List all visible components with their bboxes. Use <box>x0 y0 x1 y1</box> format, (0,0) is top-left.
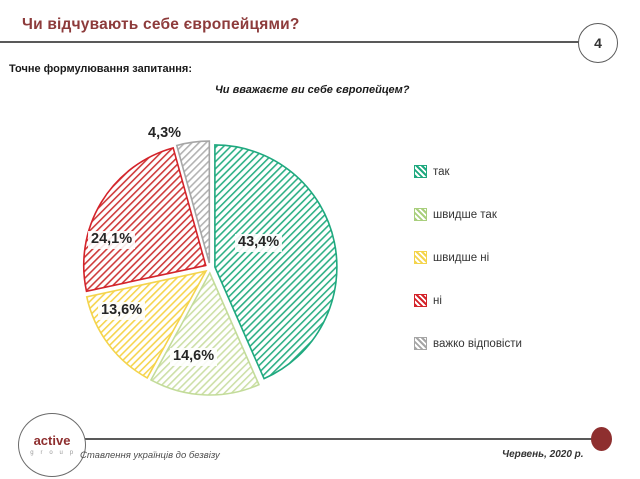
footer-divider <box>62 438 597 440</box>
legend-item-vazhko-vidpovisty[interactable]: важко відповісти <box>414 322 624 365</box>
logo-wordmark: active <box>34 434 71 447</box>
legend-item-tak[interactable]: так <box>414 150 624 193</box>
pie-chart: 43,4% 14,6% 13,6% 24,1% 4,3% <box>60 118 360 403</box>
legend-swatch-icon <box>414 294 427 307</box>
legend-label: ні <box>433 295 442 307</box>
slice-label-shvydshe-tak: 14,6% <box>170 348 217 366</box>
legend-label: швидше ні <box>433 252 489 264</box>
legend-swatch-icon <box>414 165 427 178</box>
page-title: Чи відчувають себе європейцями? <box>22 16 300 34</box>
legend-swatch-icon <box>414 337 427 350</box>
legend-swatch-icon <box>414 208 427 221</box>
slice-label-tak: 43,4% <box>235 234 282 252</box>
chart-legend: так швидше так швидше ні ні важко відпов… <box>414 150 624 365</box>
logo-subtext: g r o u p <box>30 450 75 456</box>
footer-study-title: Ставлення українців до безвізу <box>80 450 220 461</box>
slice-label-vazhko: 4,3% <box>145 125 184 143</box>
legend-swatch-icon <box>414 251 427 264</box>
legend-item-shvydshe-ni[interactable]: швидше ні <box>414 236 624 279</box>
legend-label: важко відповісти <box>433 338 522 350</box>
legend-item-shvydshe-tak[interactable]: швидше так <box>414 193 624 236</box>
footer-dot-decoration <box>591 427 612 451</box>
slice-label-shvydshe-ni: 13,6% <box>98 302 145 320</box>
question-text: Чи вважаєте ви себе європейцем? <box>215 84 409 96</box>
legend-label: швидше так <box>433 209 497 221</box>
header-divider <box>0 41 585 43</box>
footer-date: Червень, 2020 р. <box>502 449 584 460</box>
question-label: Точне формулювання запитання: <box>9 63 192 75</box>
slice-label-ni: 24,1% <box>88 231 135 249</box>
legend-label: так <box>433 166 450 178</box>
page-number-badge: 4 <box>578 23 618 63</box>
legend-item-ni[interactable]: ні <box>414 279 624 322</box>
active-group-logo: active g r o u p <box>18 413 86 477</box>
